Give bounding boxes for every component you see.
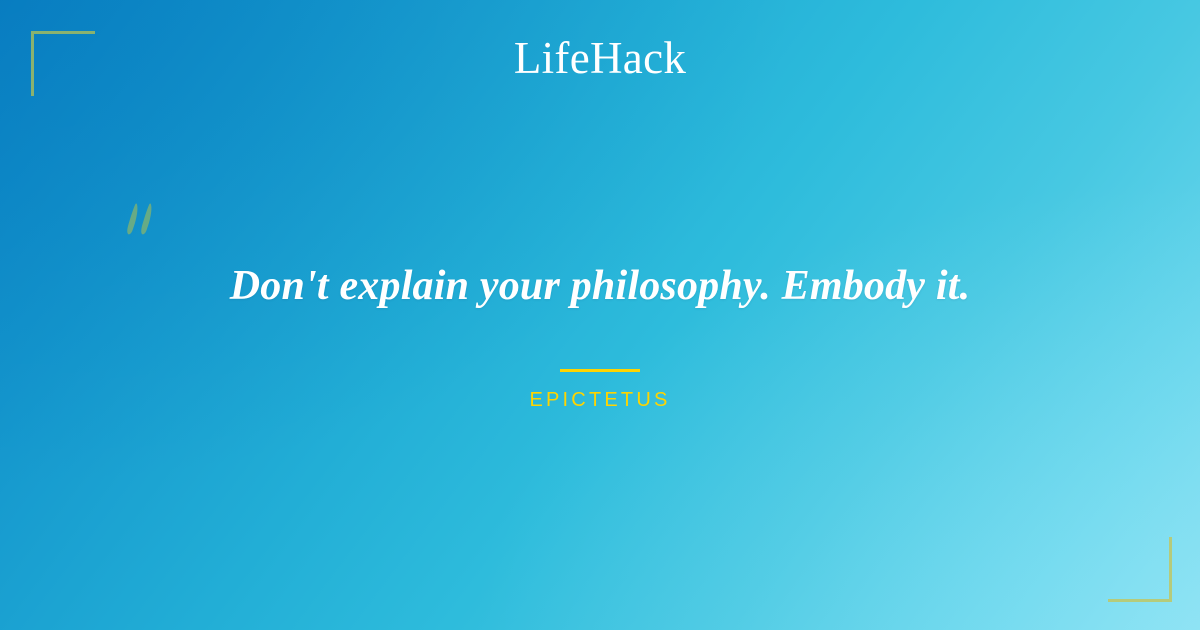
quote-author: EPICTETUS <box>529 389 670 412</box>
double-quote-mark-icon <box>126 178 186 248</box>
quote-text-block: Don't explain your philosophy. Embody it… <box>0 262 1200 312</box>
divider-container <box>0 359 1200 377</box>
brand-logo[interactable]: LifeHack <box>0 36 1200 81</box>
quote-card: LifeHack Don't explain your philosophy. … <box>0 0 1200 630</box>
quote-divider <box>560 369 640 372</box>
brand-logo-text: LifeHack <box>514 36 686 81</box>
author-container: EPICTETUS <box>0 389 1200 412</box>
quote-text: Don't explain your philosophy. Embody it… <box>0 262 1200 312</box>
corner-bracket-bottom-right-icon <box>1108 537 1172 602</box>
